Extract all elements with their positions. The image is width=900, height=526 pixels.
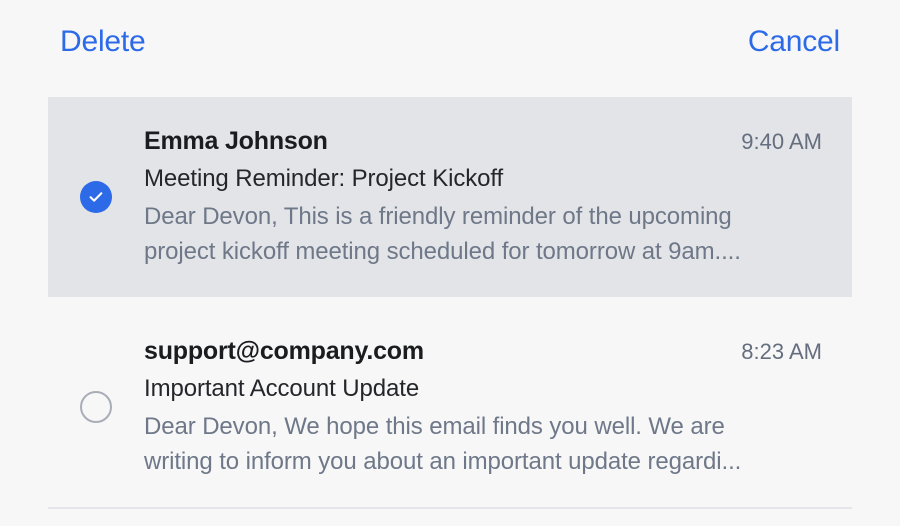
mail-item-header: Emma Johnson 9:40 AM (144, 125, 822, 157)
list-gap (0, 297, 900, 307)
mail-list-item[interactable]: support@company.com 8:23 AM Important Ac… (48, 307, 852, 507)
mail-sender: support@company.com (144, 335, 424, 367)
mail-list: Emma Johnson 9:40 AM Meeting Reminder: P… (0, 97, 900, 509)
check-circle-filled-icon[interactable] (80, 181, 112, 213)
empty-circle-icon[interactable] (80, 391, 112, 423)
mail-preview: Dear Devon, We hope this email finds you… (144, 409, 822, 479)
list-divider (48, 507, 852, 509)
mail-preview-line: Dear Devon, This is a friendly reminder … (144, 199, 822, 234)
mail-subject: Important Account Update (144, 372, 822, 405)
mail-selection-screen: Delete Cancel Emma Johnson 9:40 AM Meeti… (0, 0, 900, 526)
mail-item-header: support@company.com 8:23 AM (144, 335, 822, 367)
mail-preview-line: Dear Devon, We hope this email finds you… (144, 409, 822, 444)
selection-toggle[interactable] (48, 181, 144, 213)
selection-toggle[interactable] (48, 391, 144, 423)
mail-preview: Dear Devon, This is a friendly reminder … (144, 199, 822, 269)
mail-subject: Meeting Reminder: Project Kickoff (144, 162, 822, 195)
mail-item-content: Emma Johnson 9:40 AM Meeting Reminder: P… (144, 125, 852, 269)
mail-timestamp: 9:40 AM (741, 128, 822, 156)
mail-preview-line: project kickoff meeting scheduled for to… (144, 234, 822, 269)
mail-timestamp: 8:23 AM (741, 338, 822, 366)
mail-sender: Emma Johnson (144, 125, 328, 157)
mail-list-item[interactable]: Emma Johnson 9:40 AM Meeting Reminder: P… (48, 97, 852, 297)
cancel-button[interactable]: Cancel (746, 23, 842, 61)
mail-item-content: support@company.com 8:23 AM Important Ac… (144, 335, 852, 479)
delete-button[interactable]: Delete (58, 23, 148, 61)
selection-action-bar: Delete Cancel (0, 0, 900, 84)
mail-preview-line: writing to inform you about an important… (144, 444, 822, 479)
